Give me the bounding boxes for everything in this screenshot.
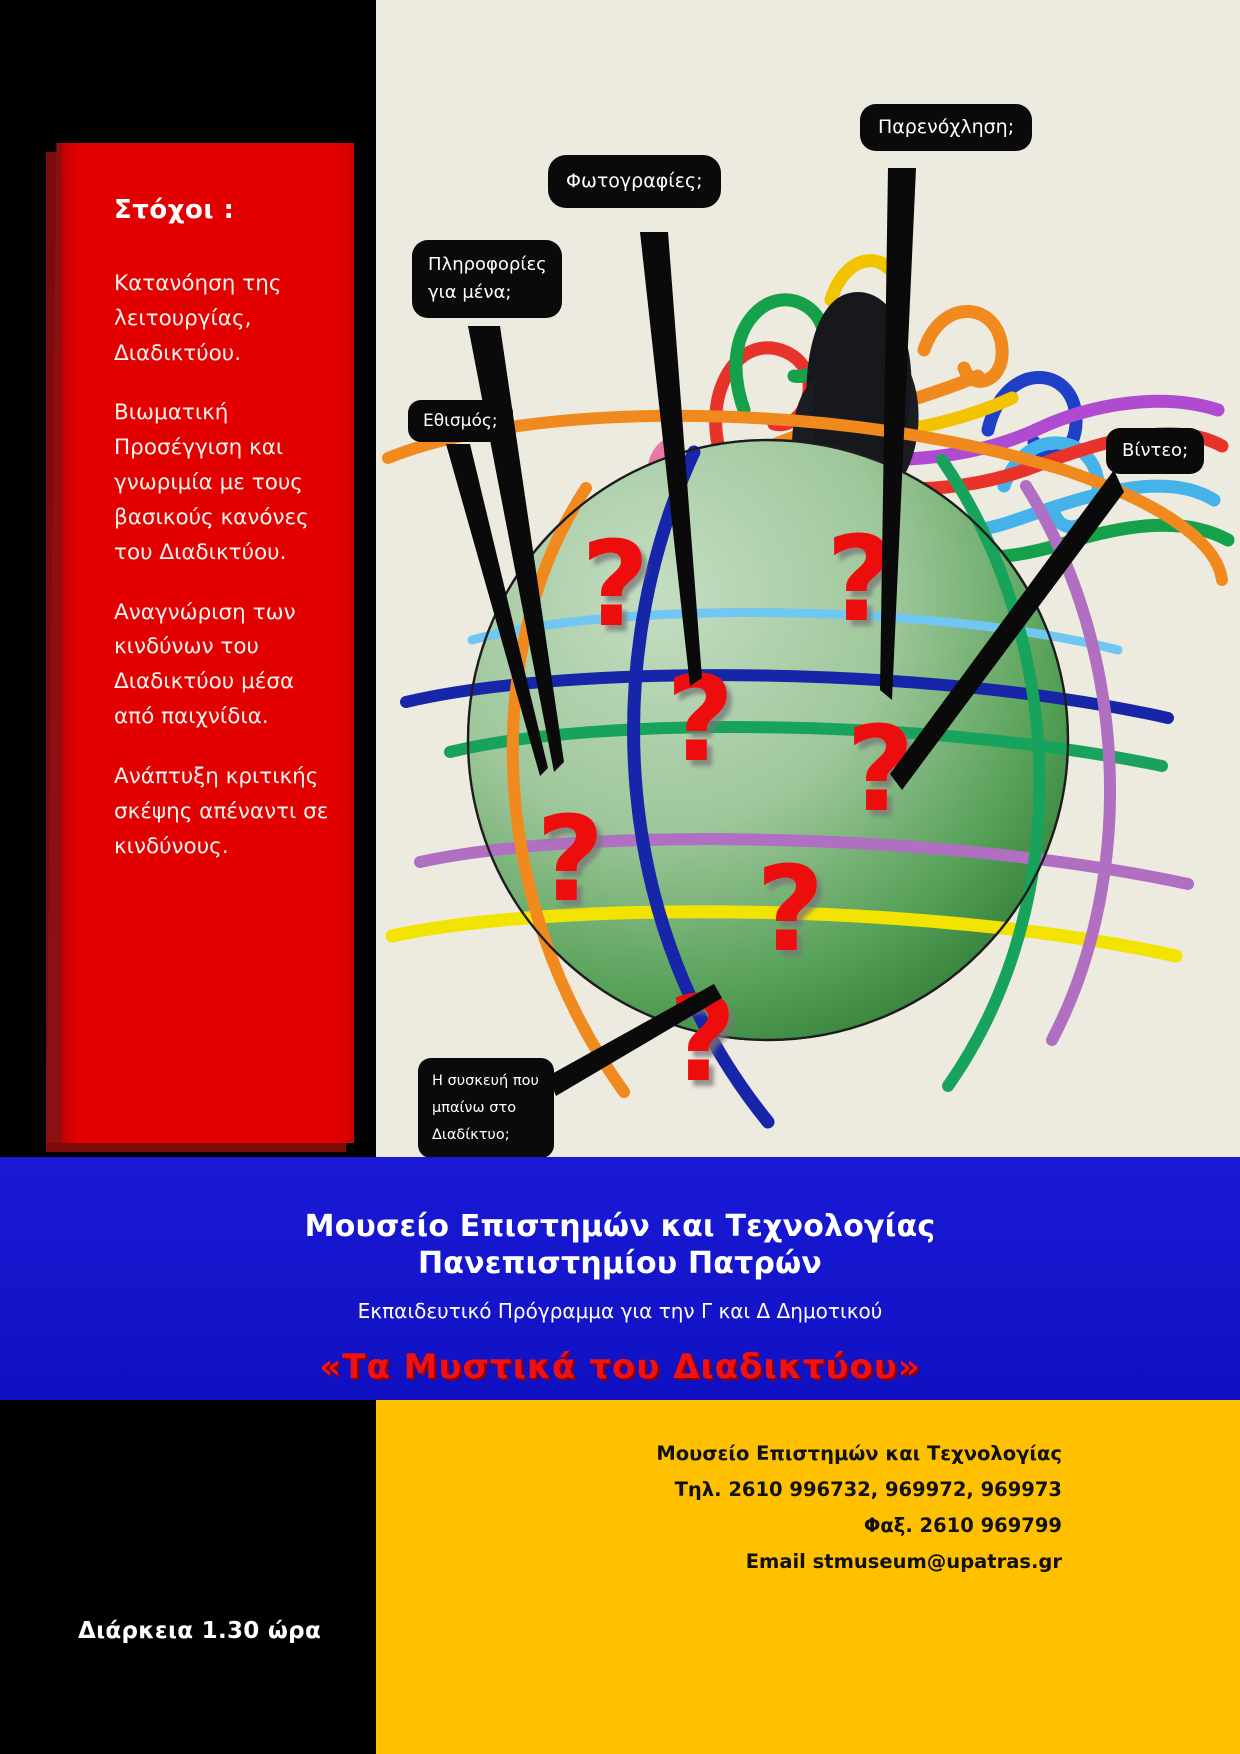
bubble-video[interactable]: Βίντεο; [1106,428,1204,474]
contact-block: Μουσείο Επιστημών και Τεχνολογίας Τηλ. 2… [656,1436,1062,1580]
contact-line: Φαξ. 2610 969799 [656,1508,1062,1544]
duration-text: Διάρκεια 1.30 ώρα [78,1618,321,1644]
poster-canvas: ? ? ? ? ? ? ? Παρενόχληση; Φωτογραφίες; … [0,0,1240,1754]
contact-line: Τηλ. 2610 996732, 969972, 969973 [656,1472,1062,1508]
bubble-harassment[interactable]: Παρενόχληση; [860,104,1032,151]
contact-panel: Μουσείο Επιστημών και Τεχνολογίας Τηλ. 2… [376,1400,1240,1754]
footer-blue-band: Μουσείο Επιστημών και Τεχνολογίας Πανεπι… [0,1157,1240,1400]
museum-name-line2: Πανεπιστημίου Πατρών [0,1246,1240,1283]
bubble-device[interactable]: Η συσκευή που μπαίνω στο Διαδίκτυο; [418,1058,554,1158]
program-title: «Τα Μυστικά του Διαδικτύου» [0,1347,1240,1387]
program-subtitle: Εκπαιδευτικό Πρόγραμμα για την Γ και Δ Δ… [0,1299,1240,1323]
bubble-addiction[interactable]: Εθισμός; [408,400,513,442]
duration-panel: Διάρκεια 1.30 ώρα [0,1400,376,1754]
bubble-photos[interactable]: Φωτογραφίες; [548,155,721,208]
bottom-strip: Διάρκεια 1.30 ώρα Μουσείο Επιστημών και … [0,1400,1240,1754]
bubble-info-about-me[interactable]: Πληροφορίες για μένα; [412,240,562,318]
contact-line-email[interactable]: Email stmuseum@upatras.gr [656,1544,1062,1580]
contact-line: Μουσείο Επιστημών και Τεχνολογίας [656,1436,1062,1472]
museum-name-line1: Μουσείο Επιστημών και Τεχνολογίας [0,1157,1240,1246]
